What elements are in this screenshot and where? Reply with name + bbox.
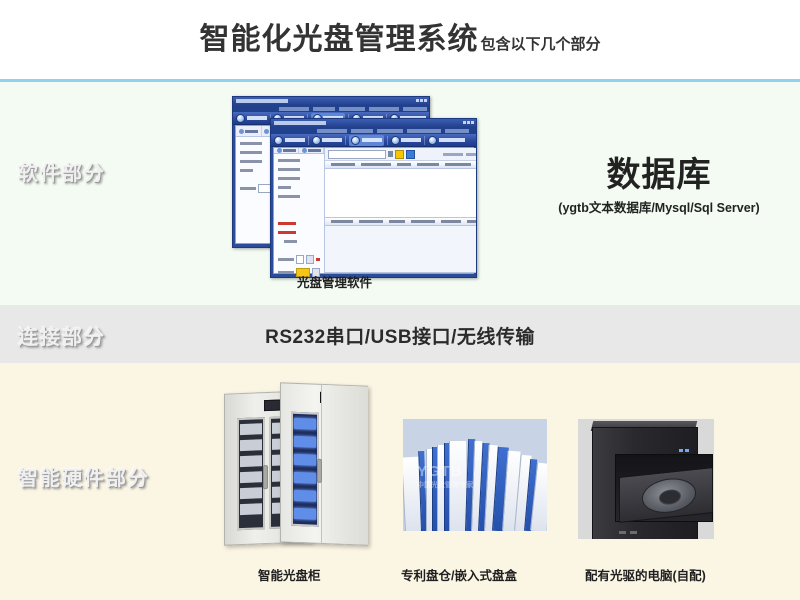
toolbar-button-stats[interactable] (391, 136, 422, 145)
hardware-caption-1: 智能光盘柜 (258, 565, 321, 584)
software-screenshots (232, 96, 482, 276)
window-controls (463, 121, 474, 124)
computer-photo (578, 419, 714, 539)
cabinet-handle (317, 459, 322, 483)
software-window-front (270, 118, 477, 278)
disc-bin-photo: YGTB 中国光盘管理专家 (403, 419, 547, 531)
gear-icon (428, 136, 437, 145)
database-title: 数据库 (528, 158, 790, 194)
photo-watermark: YGTB 中国光盘管理专家 (417, 463, 473, 490)
window-content-front (273, 147, 474, 274)
search-input[interactable] (328, 150, 386, 159)
filter-button[interactable] (406, 150, 415, 159)
window-menubar (271, 127, 476, 134)
database-subtitle: (ygtb文本数据库/Mysql/Sql Server) (528, 197, 790, 216)
watermark-text: YGTB (417, 463, 463, 480)
window-titlebar (233, 97, 429, 105)
import-icon (236, 114, 245, 123)
grid-body-bottom[interactable] (325, 226, 477, 273)
hardware-caption-3: 配有光驱的电脑(自配) (585, 565, 706, 584)
pc-tower (592, 427, 698, 539)
grid-header-top (325, 161, 477, 169)
toolbar-button-import[interactable] (236, 114, 267, 123)
field-picker-icon[interactable] (306, 255, 314, 264)
toolbar-button-export[interactable] (312, 136, 343, 145)
search-icon[interactable] (388, 151, 393, 157)
window-menubar (233, 105, 429, 112)
software-section-label: 软件部分 (18, 157, 106, 186)
left-tab-disc-out[interactable] (299, 148, 324, 153)
grid-header-bottom (325, 218, 477, 226)
cabinet-handle (263, 465, 268, 489)
left-form-rows (274, 154, 324, 249)
left-tab-1[interactable] (236, 126, 262, 136)
database-block: 数据库 (ygtb文本数据库/Mysql/Sql Server) (528, 158, 790, 216)
cabinet-glass-door-left (237, 417, 265, 530)
right-pane (325, 148, 477, 273)
grid-body-top[interactable] (325, 169, 477, 218)
cabinet-glass-door-lit (291, 412, 319, 527)
hardware-section-label: 智能硬件部分 (18, 462, 150, 491)
software-caption: 光盘管理软件 (297, 272, 372, 291)
search-row (325, 148, 477, 161)
watermark-subtext: 中国光盘管理专家 (417, 480, 473, 490)
disc-platter (642, 476, 696, 516)
query-icon (351, 136, 360, 145)
left-tab-disc-in[interactable] (274, 148, 299, 153)
field-row-1[interactable] (278, 255, 320, 264)
pc-indicator-leds (679, 449, 689, 452)
connection-text: RS232串口/USB接口/无线传输 (0, 322, 800, 349)
window-title-text (274, 121, 326, 125)
toolbar-button-query[interactable] (349, 135, 384, 146)
pc-front-buttons (619, 531, 637, 534)
window-toolbar (271, 134, 476, 147)
window-controls (416, 99, 427, 102)
toolbar-button-settings[interactable] (428, 136, 465, 145)
import-icon (274, 136, 283, 145)
stats-icon (391, 136, 400, 145)
cabinet-solid-door (321, 385, 368, 545)
toolbar-button-import[interactable] (274, 136, 305, 145)
disc-hub (659, 488, 681, 505)
slide-root: 智能化光盘管理系统 包含以下几个部分 软件部分 (0, 0, 800, 600)
highlight-button[interactable] (395, 150, 404, 159)
window-titlebar (271, 119, 476, 127)
disc-cabinet-photo (218, 378, 373, 553)
page-header: 智能化光盘管理系统 包含以下几个部分 (0, 0, 800, 79)
page-title: 智能化光盘管理系统 (199, 25, 478, 55)
header-title-group: 智能化光盘管理系统 包含以下几个部分 (199, 25, 600, 55)
cabinet-right (280, 382, 368, 545)
page-subtitle: 包含以下几个部分 (480, 37, 600, 52)
left-pane (274, 148, 325, 273)
window-title-text (236, 99, 288, 103)
export-icon (312, 136, 321, 145)
hardware-caption-2: 专利盘仓/嵌入式盘盒 (401, 565, 517, 584)
